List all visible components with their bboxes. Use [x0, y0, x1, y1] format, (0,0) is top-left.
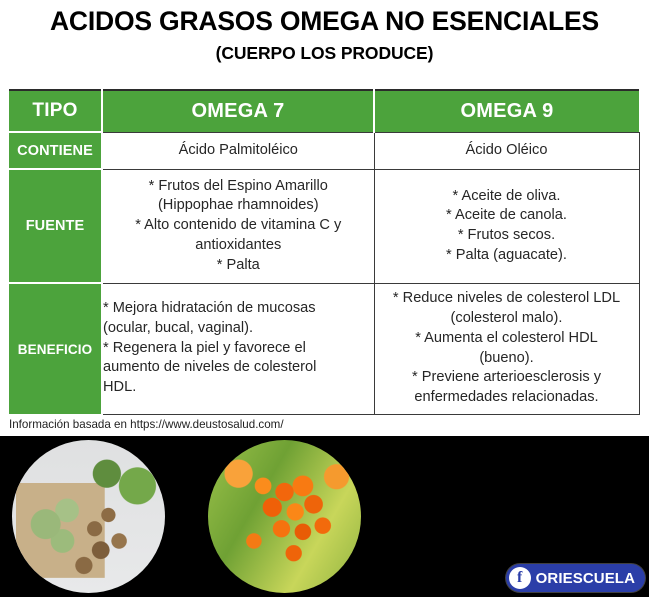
table-row: BENEFICIO * Mejora hidratación de mucosa… [9, 283, 639, 414]
cell-line: * Aumenta el colesterol HDL [375, 329, 639, 349]
page-title: ACIDOS GRASOS OMEGA NO ESENCIALES [0, 6, 649, 36]
page-subtitle: (CUERPO LOS PRODUCE) [0, 43, 649, 63]
cell-line: * Frutos del Espino Amarillo [103, 177, 374, 197]
omega-comparison-table: TIPO OMEGA 7 OMEGA 9 CONTIENE Ácido Palm… [9, 89, 640, 415]
cell-line: HDL. [103, 378, 374, 398]
row-label-fuente: FUENTE [9, 169, 102, 283]
facebook-f-icon: f [509, 567, 531, 589]
cell-line: * Previene arterioesclerosis y [375, 368, 639, 388]
cell-line: enfermedades relacionadas. [375, 388, 639, 408]
cell-line: (ocular, bucal, vaginal). [103, 319, 374, 339]
title-block: ACIDOS GRASOS OMEGA NO ESENCIALES (CUERP… [0, 0, 649, 64]
cell-line: * Mejora hidratación de mucosas [103, 299, 374, 319]
cell-line: * Alto contenido de vitamina C y [103, 216, 374, 236]
cell-line: * Aceite de canola. [375, 206, 639, 226]
facebook-page-name: ORIESCUELA [536, 570, 635, 587]
column-header-omega7: OMEGA 7 [102, 90, 374, 132]
photo-image [12, 440, 165, 593]
cell-line: * Palta [103, 256, 374, 276]
cell-beneficio-omega9: * Reduce niveles de colesterol LDL (cole… [374, 283, 639, 414]
cell-line: Ácido Palmitoléico [103, 141, 374, 161]
column-header-tipo: TIPO [9, 90, 102, 132]
cell-line: * Regenera la piel y favorece el [103, 339, 374, 359]
cell-line: * Frutos secos. [375, 226, 639, 246]
cell-line: * Aceite de oliva. [375, 187, 639, 207]
photo-artichokes-avocado-walnuts [12, 440, 165, 593]
source-note: Información basada en https://www.deusto… [9, 418, 284, 431]
cell-line: Ácido Oléico [375, 141, 639, 161]
cell-beneficio-omega7: * Mejora hidratación de mucosas (ocular,… [102, 283, 374, 414]
cell-fuente-omega9: * Aceite de oliva. * Aceite de canola. *… [374, 169, 639, 283]
cell-line: (colesterol malo). [375, 309, 639, 329]
cell-fuente-omega7: * Frutos del Espino Amarillo (Hippophae … [102, 169, 374, 283]
facebook-badge[interactable]: f ORIESCUELA [506, 564, 645, 592]
row-label-beneficio: BENEFICIO [9, 283, 102, 414]
table-row: FUENTE * Frutos del Espino Amarillo (Hip… [9, 169, 639, 283]
table-row: CONTIENE Ácido Palmitoléico Ácido Oléico [9, 132, 639, 169]
infographic-page: ACIDOS GRASOS OMEGA NO ESENCIALES (CUERP… [0, 0, 649, 597]
photo-image [208, 440, 361, 593]
omega-table-wrapper: TIPO OMEGA 7 OMEGA 9 CONTIENE Ácido Palm… [9, 89, 639, 415]
cell-line: (Hippophae rhamnoides) [103, 196, 374, 216]
photo-sea-buckthorn-berries [208, 440, 361, 593]
cell-contiene-omega7: Ácido Palmitoléico [102, 132, 374, 169]
column-header-omega9: OMEGA 9 [374, 90, 639, 132]
table-header-row: TIPO OMEGA 7 OMEGA 9 [9, 90, 639, 132]
row-label-contiene: CONTIENE [9, 132, 102, 169]
cell-contiene-omega9: Ácido Oléico [374, 132, 639, 169]
cell-line: aumento de niveles de colesterol [103, 358, 374, 378]
cell-line: * Palta (aguacate). [375, 246, 639, 266]
cell-line: (bueno). [375, 349, 639, 369]
cell-line: * Reduce niveles de colesterol LDL [375, 289, 639, 309]
photo-band: f ORIESCUELA [0, 436, 649, 597]
cell-line: antioxidantes [103, 236, 374, 256]
